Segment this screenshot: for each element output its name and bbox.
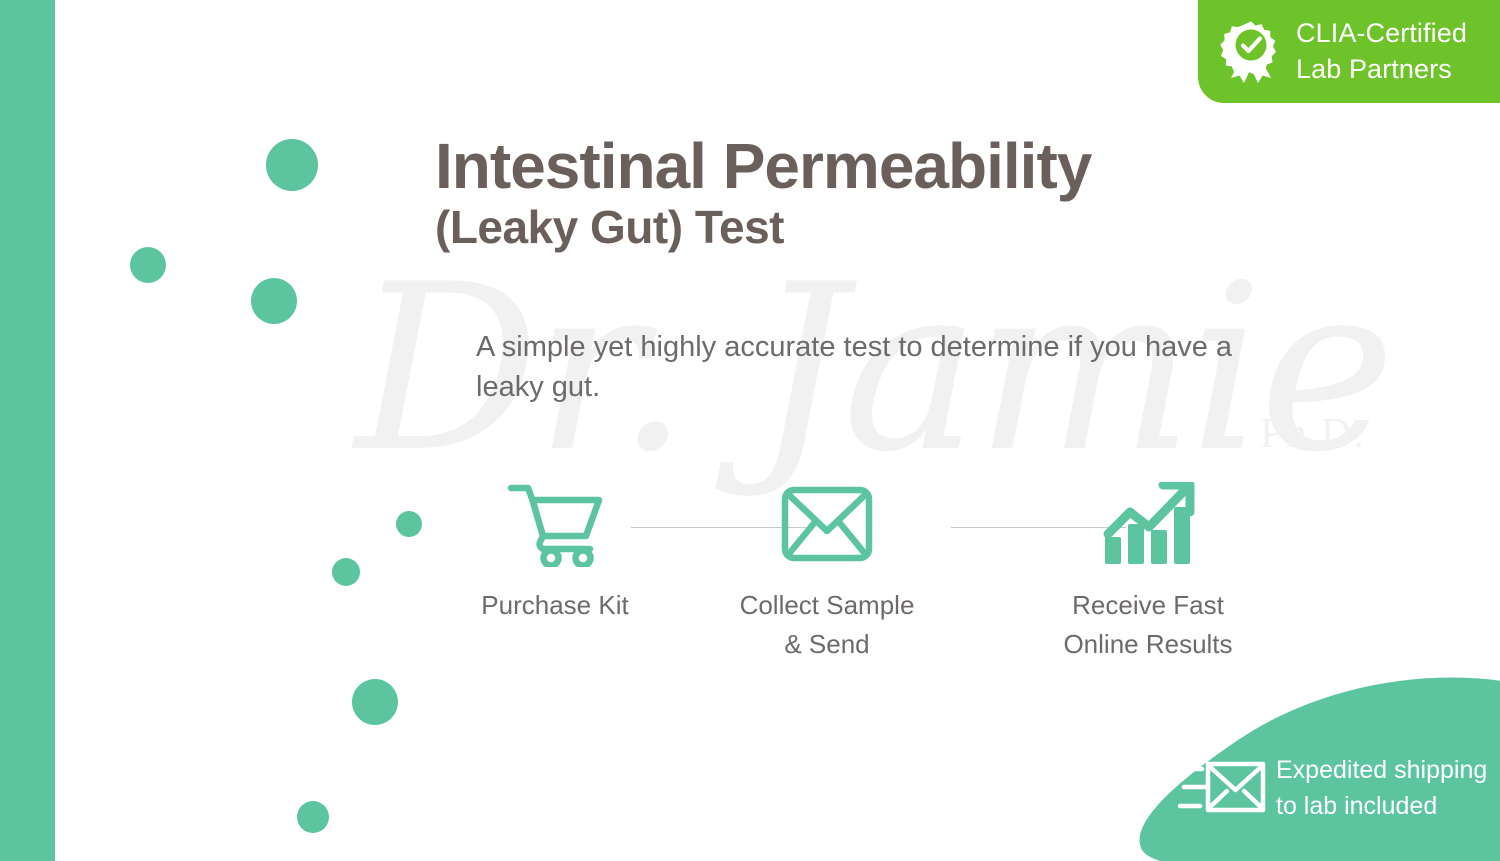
steps-row: Purchase Kit Collect Sample & Send [435,478,1295,668]
step-label-purchase-kit: Purchase Kit [435,586,675,625]
clia-badge-line-1: CLIA-Certified [1296,16,1467,52]
envelope-icon [707,478,947,570]
decorative-dot [396,511,422,537]
decorative-dot [266,139,318,191]
step-label-receive-results: Receive Fast Online Results [1028,586,1268,664]
step-collect-sample: Collect Sample & Send [707,478,947,664]
left-accent-bar [0,0,55,861]
step-receive-results: Receive Fast Online Results [1028,478,1268,664]
decorative-dot [297,801,329,833]
expedited-shipping-content: Expedited shipping to lab included [1178,752,1487,825]
page-title: Intestinal Permeability (Leaky Gut) Test [435,134,1335,255]
award-ribbon-check-icon [1220,20,1282,84]
title-line-1: Intestinal Permeability [435,134,1335,199]
shopping-cart-icon [435,478,675,570]
clia-badge-line-2: Lab Partners [1296,52,1467,88]
title-line-2: (Leaky Gut) Test [435,201,1335,254]
flying-envelope-icon [1178,757,1266,819]
promo-banner: Dr. Jamie Ph.D. CLIA-Certified Lab Partn… [0,0,1500,861]
decorative-dot [352,679,398,725]
decorative-dot [130,247,166,283]
expedited-shipping-text: Expedited shipping to lab included [1276,752,1487,825]
decorative-dot [251,278,297,324]
step-label-collect-sample: Collect Sample & Send [707,586,947,664]
clia-badge-text: CLIA-Certified Lab Partners [1296,16,1467,87]
watermark-phd-text: Ph.D. [1260,410,1366,458]
growth-chart-icon [1028,478,1268,570]
clia-certified-badge: CLIA-Certified Lab Partners [1198,0,1500,103]
lede-paragraph: A simple yet highly accurate test to det… [476,328,1276,407]
step-purchase-kit: Purchase Kit [435,478,675,625]
decorative-dot [332,558,360,586]
